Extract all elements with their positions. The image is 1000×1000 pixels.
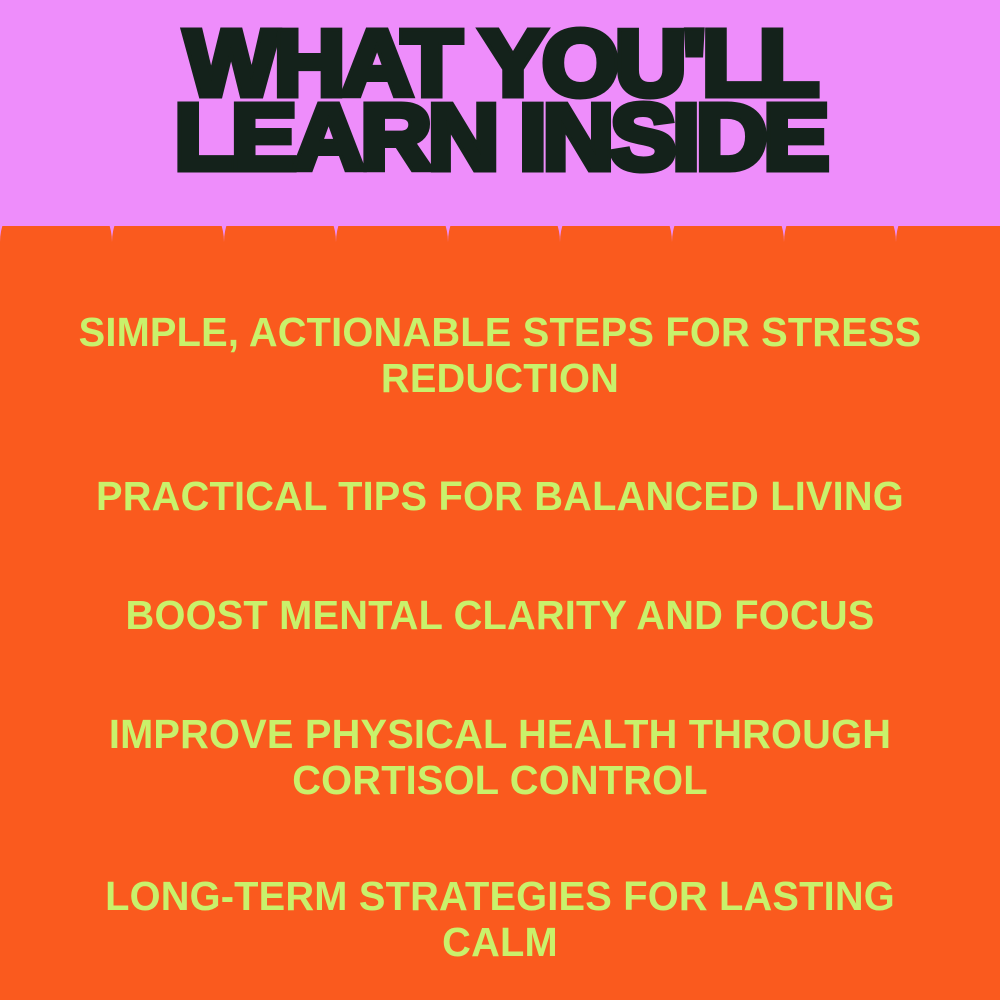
list-item: BOOST MENTAL CLARITY AND FOCUS [68, 592, 931, 638]
list-item: SIMPLE, ACTIONABLE STEPS FOR STRESS REDU… [68, 309, 931, 401]
page-title: WHAT YOU'LL LEARN INSIDE [0, 26, 1000, 174]
list-item: LONG-TERM STRATEGIES FOR LASTING CALM [68, 873, 931, 965]
list-item: PRACTICAL TIPS FOR BALANCED LIVING [68, 473, 931, 519]
header-band: WHAT YOU'LL LEARN INSIDE [0, 0, 1000, 226]
poster-canvas: WHAT YOU'LL LEARN INSIDE SIMPLE, ACTIONA… [0, 0, 1000, 1000]
benefits-list: SIMPLE, ACTIONABLE STEPS FOR STRESS REDU… [0, 298, 1000, 958]
list-item: IMPROVE PHYSICAL HEALTH THROUGH CORTISOL… [68, 711, 931, 803]
